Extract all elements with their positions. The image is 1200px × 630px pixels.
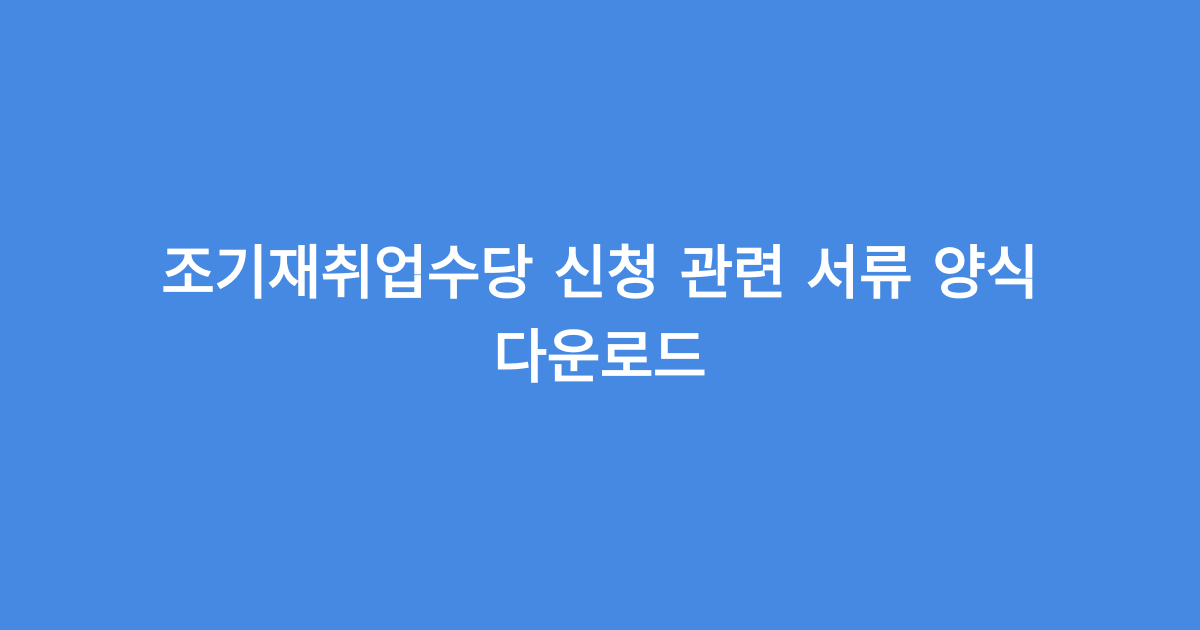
title-block: 조기재취업수당 신청 관련 서류 양식 다운로드 [70, 231, 1130, 399]
page-title: 조기재취업수당 신청 관련 서류 양식 다운로드 [80, 231, 1120, 399]
share-card: 조기재취업수당 신청 관련 서류 양식 다운로드 [0, 0, 1200, 630]
